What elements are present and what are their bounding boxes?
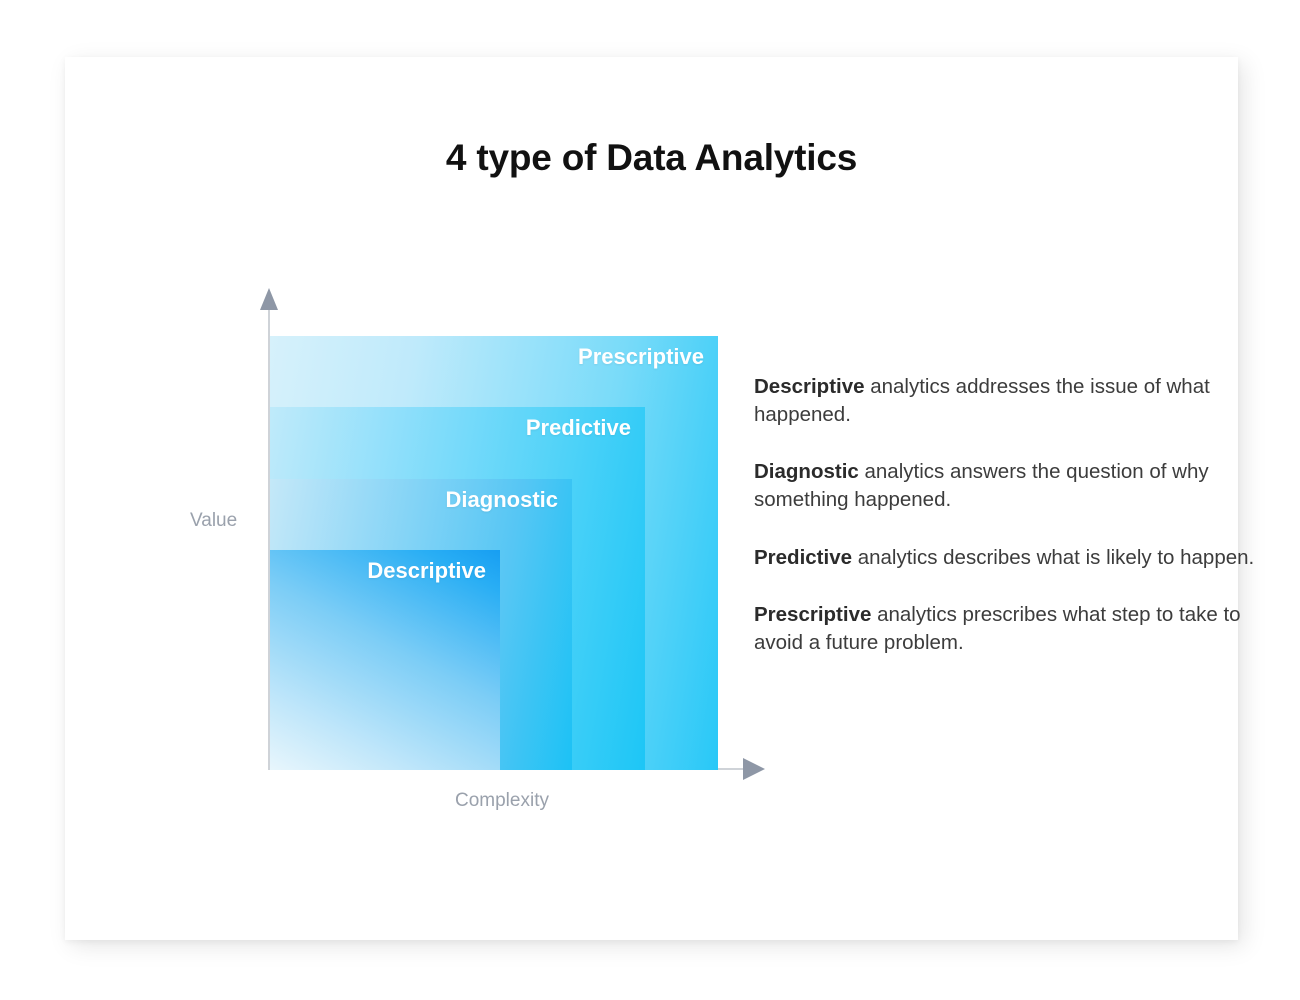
descriptions-panel: Descriptive analytics addresses the issu… bbox=[754, 352, 1274, 657]
description-term-3: Prescriptive bbox=[754, 603, 871, 626]
description-item-0: Descriptive analytics addresses the issu… bbox=[754, 373, 1274, 430]
description-item-3: Prescriptive analytics prescribes what s… bbox=[754, 601, 1274, 658]
description-term-0: Descriptive bbox=[754, 375, 865, 398]
description-term-1: Diagnostic bbox=[754, 460, 859, 483]
band-label-diagnostic: Diagnostic bbox=[446, 487, 558, 513]
y-axis-label: Value bbox=[190, 510, 237, 532]
page-title: 4 type of Data Analytics bbox=[65, 137, 1238, 179]
description-text-2: analytics describes what is likely to ha… bbox=[852, 546, 1254, 569]
band-label-descriptive: Descriptive bbox=[367, 558, 486, 584]
description-item-2: Predictive analytics describes what is l… bbox=[754, 544, 1274, 572]
slide-card: 4 type of Data Analytics Value Complexit… bbox=[65, 57, 1238, 940]
band-label-prescriptive: Prescriptive bbox=[578, 344, 704, 370]
analytics-maturity-diagram: Value Complexity Prescriptive Predictive… bbox=[135, 242, 775, 782]
band-descriptive[interactable]: Descriptive bbox=[270, 550, 500, 770]
band-label-predictive: Predictive bbox=[526, 415, 631, 441]
description-item-1: Diagnostic analytics answers the questio… bbox=[754, 458, 1274, 515]
arrow-up-icon bbox=[260, 288, 278, 310]
arrow-right-icon bbox=[743, 758, 765, 780]
description-term-2: Predictive bbox=[754, 546, 852, 569]
x-axis-label: Complexity bbox=[455, 790, 549, 812]
